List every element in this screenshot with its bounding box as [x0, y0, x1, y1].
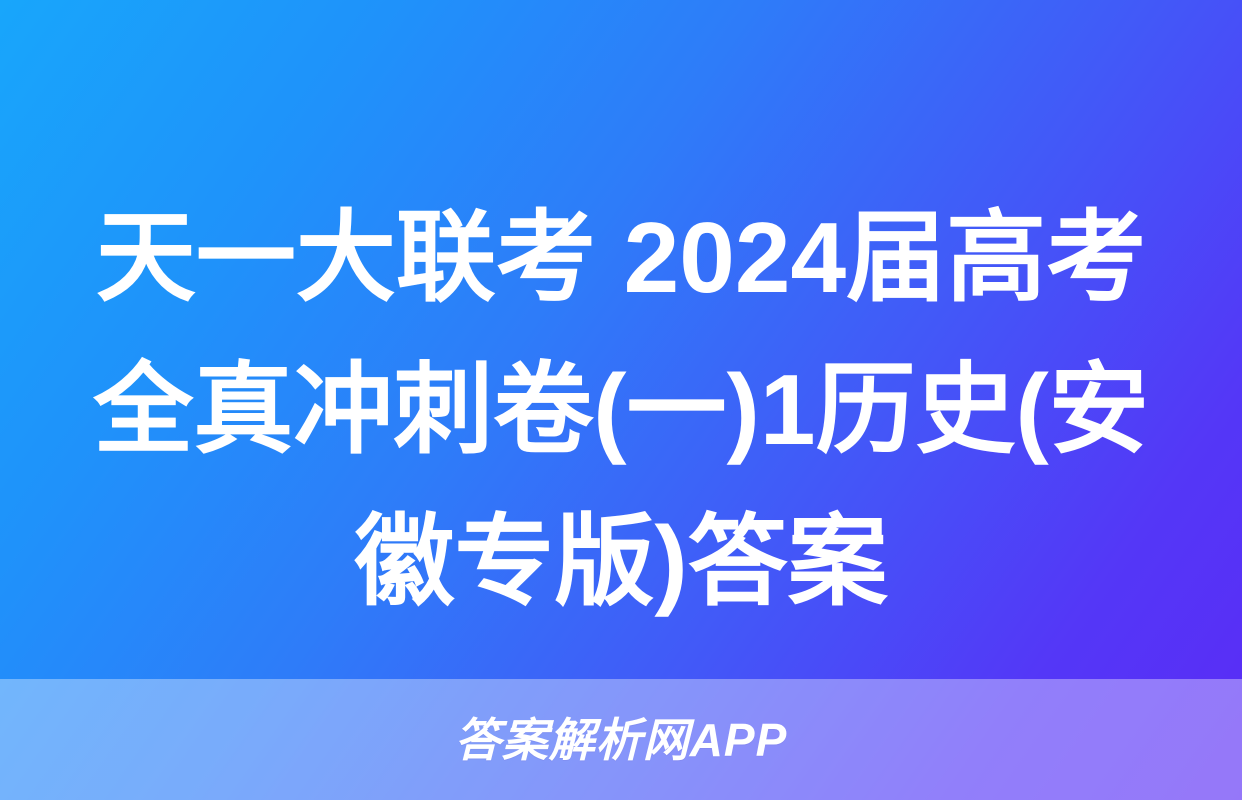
title-line-2: 全真冲刺卷(一)1历史(安 [0, 334, 1242, 486]
footer-watermark-text: 答案解析网APP [455, 717, 788, 763]
footer-watermark-band: 答案解析网APP [0, 679, 1242, 800]
poster-canvas: 天一大联考 2024届高考 全真冲刺卷(一)1历史(安 徽专版)答案 答案解析网… [0, 0, 1242, 800]
poster-title: 天一大联考 2024届高考 全真冲刺卷(一)1历史(安 徽专版)答案 [0, 182, 1242, 638]
title-line-3: 徽专版)答案 [0, 486, 1242, 638]
title-line-1: 天一大联考 2024届高考 [0, 182, 1242, 334]
